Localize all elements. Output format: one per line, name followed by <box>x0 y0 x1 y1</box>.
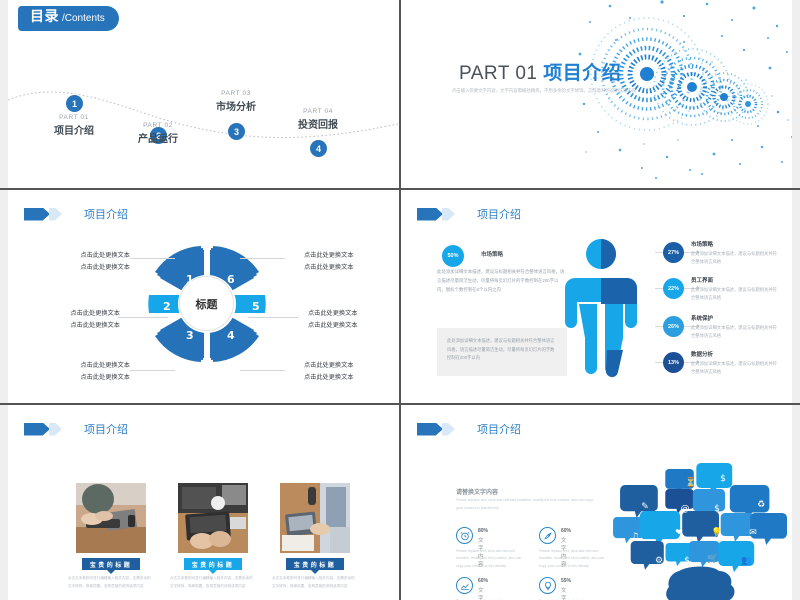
part-title-en: PART 01 <box>459 63 543 84</box>
stat-2-desc: Please replace text, click add relevant … <box>539 548 611 570</box>
slide-photos[interactable]: 项目介绍 宝贵的标题 点击文本框即可进行编辑输入相关内容，无需多余的文字修饰，简… <box>0 405 399 600</box>
donut-label-3-line2: 点击此处更换文本 <box>60 372 130 384</box>
chevron-secondary-icon <box>442 423 455 436</box>
section-header: 项目介绍 <box>417 421 521 437</box>
svg-text:⚙: ⚙ <box>655 556 663 566</box>
right-item-4: 数据分析 此处添加详细文本描述，建议与标题相关并符合整体语言风格 <box>691 350 777 376</box>
part-title-cn: 项目介绍 <box>543 63 621 84</box>
donut-label-5: 点击此处更换文本 点击此处更换文本 <box>308 308 380 332</box>
chevron-primary-icon <box>417 208 443 221</box>
donut-label-2-line2: 点击此处更换文本 <box>50 320 120 332</box>
svg-text:$: $ <box>720 474 726 484</box>
timeline-node-1[interactable]: 1 <box>66 95 83 112</box>
svg-text:⏳: ⏳ <box>685 476 696 488</box>
photo-desc-1: 点击文本框即可进行编辑输入相关内容，无需多余的文字修饰，简单扼要、言简意赅的说明… <box>68 575 154 591</box>
svg-text:♫: ♫ <box>631 532 639 542</box>
timeline-part-4: PART 04 <box>273 108 363 115</box>
pct-circle-3: 26% <box>663 316 684 337</box>
right-item-2-title: 员工界面 <box>691 276 777 284</box>
photo-2-art <box>178 483 248 553</box>
chevron-primary-icon <box>417 423 443 436</box>
part-subtitle: 点击输入简要文字内容，文字内容需概括精炼，不用多余的文字修饰，言简意赅的说明该项… <box>449 86 639 95</box>
svg-text:👥: 👥 <box>741 556 752 566</box>
chevron-secondary-icon <box>49 423 62 436</box>
donut-num-4: 4 <box>227 329 235 342</box>
timeline-part-3: PART 03 <box>191 90 281 97</box>
timeline-node-3[interactable]: 3 <box>228 123 245 140</box>
timeline-node-4[interactable]: 4 <box>310 140 327 157</box>
pct-value-4: 13% <box>668 360 679 366</box>
caption-tail-3 <box>311 570 319 574</box>
svg-text:$: $ <box>714 504 720 514</box>
donut-label-5-line2: 点击此处更换文本 <box>308 320 380 332</box>
donut-label-1-line1: 点击此处更换文本 <box>60 250 130 262</box>
svg-text:@: @ <box>681 504 690 514</box>
timeline-name-3: 市场分析 <box>191 98 281 113</box>
svg-text:✉: ✉ <box>789 528 793 538</box>
timeline-part-2: PART 02 <box>113 122 203 129</box>
right-item-1: 市场策略 此处添加详细文本描述，建议与标题相关并符合整体语言风格 <box>691 240 777 266</box>
slide-donut[interactable]: 项目介绍 <box>0 190 399 403</box>
bubbles-heading: 请替换文字内容 <box>456 487 498 496</box>
svg-text:❤: ❤ <box>675 528 683 538</box>
photo-caption-1-text: 宝贵的标题 <box>90 560 133 569</box>
section-header: 项目介绍 <box>417 206 521 222</box>
caption-tail-2 <box>209 570 217 574</box>
right-item-2-desc: 此处添加详细文本描述，建议与标题相关并符合整体语言风格 <box>691 286 777 302</box>
contents-tab: 目录 /Contents <box>18 6 119 31</box>
timeline-part-1: PART 01 <box>29 114 119 121</box>
right-item-1-title: 市场策略 <box>691 240 777 248</box>
timeline-name-1: 项目介绍 <box>29 122 119 137</box>
donut-center-text: 标题 <box>196 296 218 312</box>
timeline-name-2: 产品运行 <box>113 130 203 145</box>
timeline-name-4: 投资回报 <box>273 116 363 131</box>
photo-1-art <box>76 483 146 553</box>
stat-2-pct: 60% <box>561 528 571 534</box>
slide-contents[interactable]: 目录 /Contents 1 2 3 4 PART 01 项目介绍 PART 0… <box>0 0 399 188</box>
donut-label-1: 点击此处更换文本 点击此处更换文本 <box>60 250 130 274</box>
slide-person[interactable]: 项目介绍 50% 市场策略 此处添加详细文本描述，建议与标题相关并符合整体语言风… <box>401 190 800 403</box>
node-num: 1 <box>72 99 77 109</box>
caption-tail-1 <box>107 570 115 574</box>
donut-label-2: 点击此处更换文本 点击此处更换文本 <box>50 308 120 332</box>
left-info-block: 市场策略 此处添加详细文本描述，建议与标题相关并符合整体语言风格，语言描述尽量简… <box>437 250 567 294</box>
donut-label-4: 点击此处更换文本 点击此处更换文本 <box>304 360 376 384</box>
donut-label-3: 点击此处更换文本 点击此处更换文本 <box>60 360 130 384</box>
donut-label-2-line1: 点击此处更换文本 <box>50 308 120 320</box>
chevron-primary-icon <box>24 423 50 436</box>
photo-caption-2: 宝贵的标题 <box>184 558 242 570</box>
photo-thumbnail-1[interactable] <box>76 483 146 553</box>
donut-num-1: 1 <box>186 273 194 286</box>
photo-caption-3-text: 宝贵的标题 <box>294 560 337 569</box>
slide-grid: 目录 /Contents 1 2 3 4 PART 01 项目介绍 PART 0… <box>0 0 800 600</box>
slide-part01[interactable]: PART 01 项目介绍 点击输入简要文字内容，文字内容需概括精炼，不用多余的文… <box>401 0 800 188</box>
photo-desc-2: 点击文本框即可进行编辑输入相关内容，无需多余的文字修饰，简单扼要、言简意赅的说明… <box>170 575 256 591</box>
photo-caption-2-text: 宝贵的标题 <box>192 560 235 569</box>
bulb-icon <box>539 577 556 594</box>
right-item-3-title: 系统保护 <box>691 314 777 322</box>
person-figure-icon <box>553 238 649 380</box>
chevron-secondary-icon <box>442 208 455 221</box>
donut-label-1-line2: 点击此处更换文本 <box>60 262 130 274</box>
donut-label-5-line1: 点击此处更换文本 <box>308 308 380 320</box>
donut-num-6: 6 <box>227 273 235 286</box>
section-title: 项目介绍 <box>477 421 521 437</box>
photo-3-art <box>280 483 350 553</box>
donut-label-6: 点击此处更换文本 点击此处更换文本 <box>304 250 376 274</box>
svg-text:✎: ✎ <box>641 502 649 512</box>
svg-text:$: $ <box>684 556 690 566</box>
right-item-3: 系统保护 此处添加详细文本描述，建议与标题相关并符合整体语言风格 <box>691 314 777 340</box>
svg-text:♻: ♻ <box>757 500 765 510</box>
contents-tab-cn: 目录 <box>30 6 59 26</box>
stat-4-pct: 55% <box>561 578 571 584</box>
contents-tab-en: /Contents <box>62 13 105 24</box>
svg-text:✉: ✉ <box>749 528 757 538</box>
donut-num-5: 5 <box>252 300 260 313</box>
stat-1-desc: Please replace text, click add relevant … <box>456 548 528 570</box>
donut-label-6-line2: 点击此处更换文本 <box>304 262 376 274</box>
bubbles-subtext: Please replace text, click add relevant … <box>456 497 596 512</box>
pct-value-1: 27% <box>668 250 679 256</box>
donut-num-3: 3 <box>186 329 194 342</box>
pct-circle-1: 27% <box>663 242 684 263</box>
section-header: 项目介绍 <box>24 421 128 437</box>
timeline-label-1: PART 01 项目介绍 <box>29 114 119 137</box>
section-title: 项目介绍 <box>84 421 128 437</box>
pct-value-2: 22% <box>668 286 679 292</box>
photo-desc-3: 点击文本框即可进行编辑输入相关内容，无需多余的文字修饰，简单扼要、言简意赅的说明… <box>272 575 358 591</box>
right-item-4-title: 数据分析 <box>691 350 777 358</box>
donut-label-4-line1: 点击此处更换文本 <box>304 360 376 372</box>
svg-text:💡: 💡 <box>711 526 722 538</box>
pct-value-3: 26% <box>668 324 679 330</box>
timeline-label-3: PART 03 市场分析 <box>191 90 281 113</box>
donut-label-3-line1: 点击此处更换文本 <box>60 360 130 372</box>
right-item-4-desc: 此处添加详细文本描述，建议与标题相关并符合整体语言风格 <box>691 360 777 376</box>
node-num: 4 <box>316 144 321 154</box>
chart-icon <box>456 577 473 594</box>
right-item-2: 员工界面 此处添加详细文本描述，建议与标题相关并符合整体语言风格 <box>691 276 777 302</box>
photo-thumbnail-2[interactable] <box>178 483 248 553</box>
photo-caption-1: 宝贵的标题 <box>82 558 140 570</box>
timeline-label-4: PART 04 投资回报 <box>273 108 363 131</box>
donut-label-4-line2: 点击此处更换文本 <box>304 372 376 384</box>
idea-bubble-tree-graphic: ⏳ $ ✎ @ $ ♻ ♫ ❤ 💡 ✉ ✉ ⚙ $ 🛒 👥 <box>613 463 793 600</box>
left-paragraph: 此处添加详细文本描述，建议与标题相关并符合整体语言风格，语言描述尽量简洁生动，尽… <box>437 268 567 294</box>
rocket-icon <box>539 527 556 544</box>
left-gray-box: 此处添加详细文本描述，建议与标题相关并符合整体语言风格，语言描述尽量简洁生动，尽… <box>437 328 567 376</box>
svg-text:🛒: 🛒 <box>707 552 718 564</box>
right-item-3-desc: 此处添加详细文本描述，建议与标题相关并符合整体语言风格 <box>691 324 777 340</box>
donut-label-6-line1: 点击此处更换文本 <box>304 250 376 262</box>
photo-caption-3: 宝贵的标题 <box>286 558 344 570</box>
donut-num-2: 2 <box>163 300 171 313</box>
stat-1-pct: 80% <box>478 528 488 534</box>
timeline-label-2: PART 02 产品运行 <box>113 122 203 145</box>
photo-thumbnail-3[interactable] <box>280 483 350 553</box>
part-title: PART 01 项目介绍 <box>459 58 621 85</box>
node-num: 3 <box>234 127 239 137</box>
slide-bubbles[interactable]: 项目介绍 请替换文字内容 Please replace text, click … <box>401 405 800 600</box>
pct-circle-4: 13% <box>663 352 684 373</box>
section-title: 项目介绍 <box>477 206 521 222</box>
stat-3-pct: 60% <box>478 578 488 584</box>
right-item-1-desc: 此处添加详细文本描述，建议与标题相关并符合整体语言风格 <box>691 250 777 266</box>
alarm-clock-icon <box>456 527 473 544</box>
pct-circle-2: 22% <box>663 278 684 299</box>
